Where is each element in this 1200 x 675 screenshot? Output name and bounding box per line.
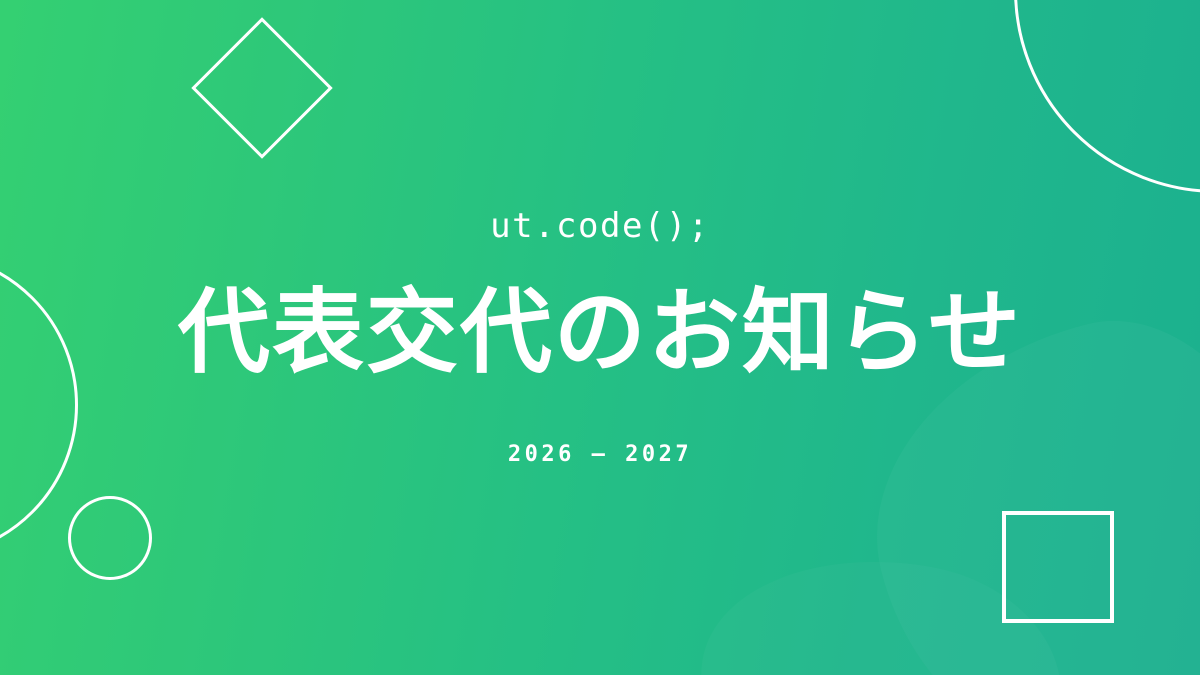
slide-title: 代表交代のお知らせ bbox=[178, 285, 1022, 382]
title-slide: ut.code(); 代表交代のお知らせ 2026 — 2027 bbox=[0, 0, 1200, 675]
organization-name: ut.code(); bbox=[490, 209, 710, 243]
slide-content: ut.code(); 代表交代のお知らせ 2026 — 2027 bbox=[0, 0, 1200, 675]
date-range: 2026 — 2027 bbox=[508, 444, 692, 466]
